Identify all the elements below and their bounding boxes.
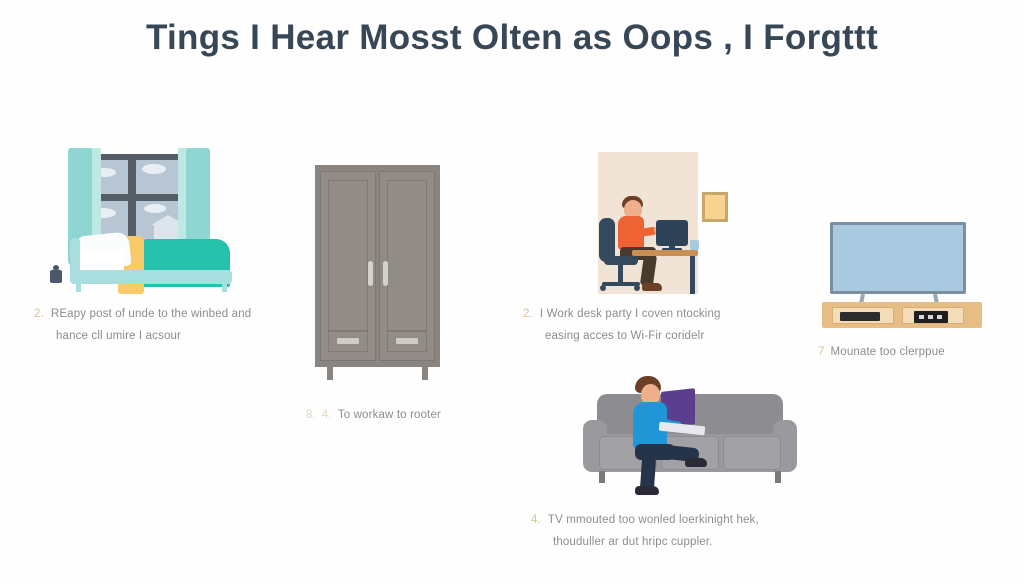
caption-television: 7Mounate too clerppue <box>818 341 1018 363</box>
drawer-pull-icon <box>337 338 359 344</box>
sofa-laptop-illustration <box>583 372 797 496</box>
wardrobe-handle-left <box>368 261 373 286</box>
cloud-icon <box>144 204 166 213</box>
sofa-cushion <box>723 436 781 470</box>
drawer-left <box>328 330 368 352</box>
desk-leg <box>690 256 695 294</box>
sofa-leg <box>775 471 781 483</box>
door-panel <box>387 180 427 332</box>
caption-line-1: TV mmouted too wonled loerkinight hek, <box>548 514 759 526</box>
office-chair-post <box>618 264 623 284</box>
tv-screen <box>830 222 966 294</box>
caption-marker-secondary: 4. <box>322 409 332 421</box>
caption-line-1: REapy post of unde to the winbed and <box>51 308 251 320</box>
slide-canvas: Tings I Hear Mosst Olten as Oops , I For… <box>0 0 1024 585</box>
drawer-pull-icon <box>396 338 418 344</box>
caption-marker: 4. <box>531 514 541 526</box>
person-shoe <box>642 283 662 291</box>
page-title: Tings I Hear Mosst Olten as Oops , I For… <box>0 18 1024 58</box>
wardrobe-illustration <box>315 165 440 380</box>
drawer-right <box>387 330 427 352</box>
wardrobe-foot <box>422 367 428 380</box>
caption-line-2: thouduller ar dut hripc cuppler. <box>553 531 811 553</box>
picture-frame-inner <box>705 195 725 219</box>
caption-marker: 2. <box>523 308 533 320</box>
nightstand-lamp <box>50 270 62 283</box>
bed-base <box>70 270 232 284</box>
receiver-indicator <box>928 315 933 319</box>
chair-caster <box>600 285 606 291</box>
caption-line-1: To workaw to rooter <box>338 409 441 421</box>
caption-line-1: I Work desk party I coven ntocking <box>540 308 721 320</box>
caption-line-2: easing acces to Wi-Fir coridelr <box>545 325 773 347</box>
cloud-icon <box>142 164 166 174</box>
wardrobe-handle-right <box>383 261 388 286</box>
tv-console-illustration <box>822 222 982 326</box>
av-receiver <box>914 311 948 323</box>
receiver-indicator <box>937 315 942 319</box>
wardrobe-foot <box>327 367 333 380</box>
caption-marker: 2. <box>34 308 44 320</box>
set-top-box <box>840 312 880 321</box>
person-shoe <box>635 486 659 495</box>
computer-monitor <box>656 220 688 246</box>
caption-line-2: hance cll umire I acsour <box>56 325 304 347</box>
chair-caster <box>634 285 640 291</box>
caption-sofa: 4.TV mmouted too wonled loerkinight hek,… <box>531 509 811 554</box>
sofa-leg <box>599 471 605 483</box>
bed-window-illustration <box>46 146 232 296</box>
bed-leg <box>222 283 227 292</box>
door-panel <box>328 180 368 332</box>
picture-frame <box>702 192 728 222</box>
desk-top <box>632 250 698 256</box>
receiver-indicator <box>919 315 924 319</box>
caption-bedroom: 2.REapy post of unde to the winbed and h… <box>34 303 304 348</box>
caption-marker: 8. <box>306 409 316 421</box>
caption-desk: 2.I Work desk party I coven ntocking eas… <box>523 303 773 348</box>
caption-marker: 7 <box>818 346 825 358</box>
caption-line-1: Mounate too clerppue <box>831 346 945 358</box>
bed-leg <box>76 283 81 292</box>
person-shoe <box>685 458 707 467</box>
desk-worker-illustration <box>580 152 750 300</box>
caption-wardrobe: 8.4.To workaw to rooter <box>306 404 526 426</box>
